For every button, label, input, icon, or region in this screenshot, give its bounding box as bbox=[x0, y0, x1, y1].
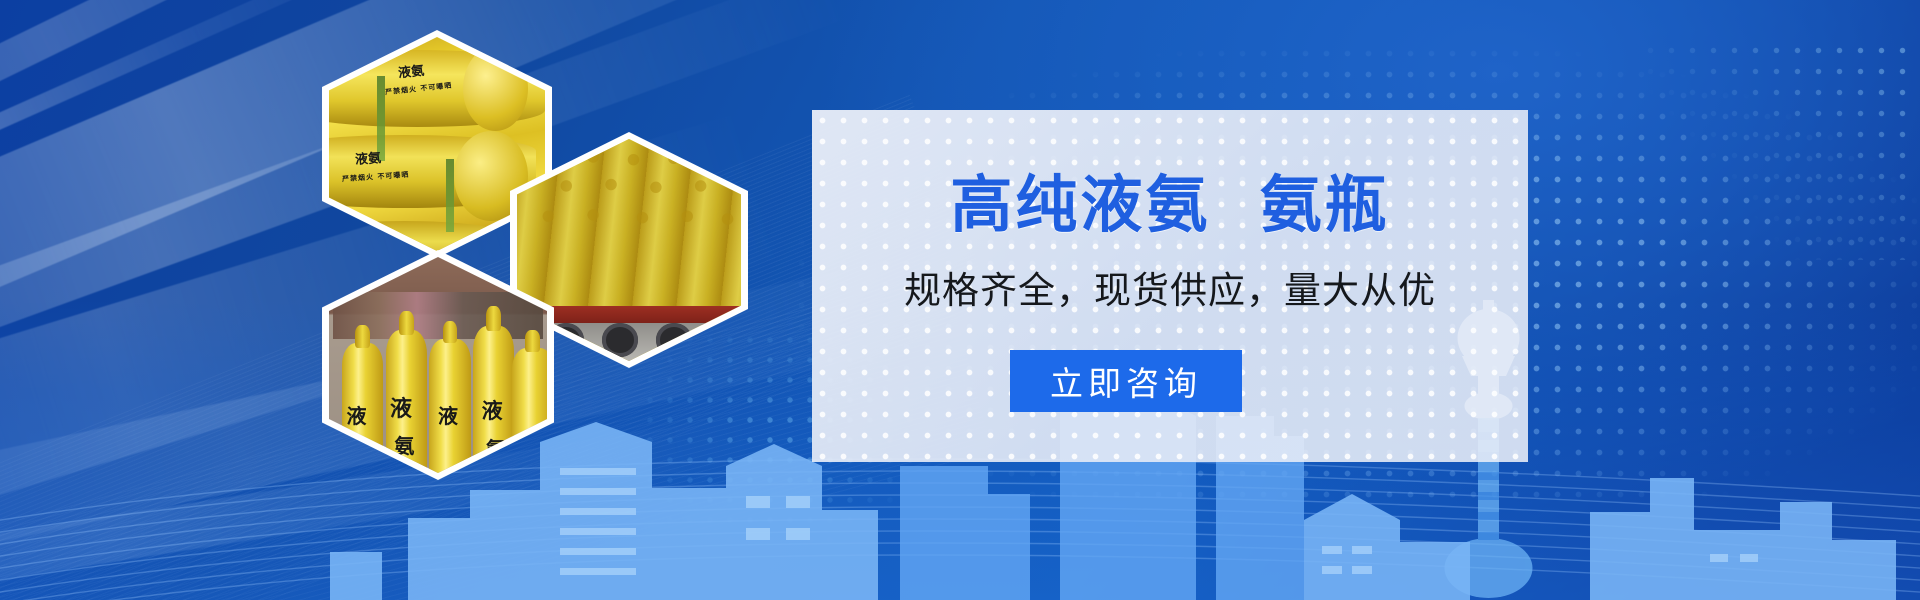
page-title: 高纯液氨 氨瓶 bbox=[812, 154, 1528, 244]
hero-banner: 液氨 严禁烟火 不可曝晒 液氨 严禁烟火 不可曝晒 bbox=[0, 0, 1920, 600]
hexagon-photo-cluster: 液氨 严禁烟火 不可曝晒 液氨 严禁烟火 不可曝晒 bbox=[300, 10, 780, 490]
hero-content-panel: 高纯液氨 氨瓶 规格齐全，现货供应，量大从优 立即咨询 bbox=[812, 110, 1528, 462]
cylinder-label-text: 液 bbox=[482, 395, 503, 425]
cylinder-label-text: 液 bbox=[390, 391, 412, 423]
halftone-dot-pattern-corner bbox=[1640, 40, 1920, 260]
consult-now-button-label: 立即咨询 bbox=[1050, 357, 1202, 405]
cylinder-label-text: 氨 bbox=[486, 434, 505, 461]
truck-wheel bbox=[656, 323, 692, 356]
gas-cylinder bbox=[512, 348, 547, 473]
cylinder-label-text: 氨 bbox=[394, 430, 414, 459]
cylinder-label-text: 液 bbox=[346, 400, 366, 429]
cylinder-label-text: 液氨 bbox=[397, 59, 425, 81]
cylinder-label-text: 液 bbox=[438, 400, 458, 429]
cylinder-label-text: 液氨 bbox=[354, 147, 381, 168]
truck-wheel bbox=[602, 323, 638, 356]
consult-now-button[interactable]: 立即咨询 bbox=[1010, 350, 1242, 412]
page-subtitle: 规格齐全，现货供应，量大从优 bbox=[812, 260, 1528, 314]
